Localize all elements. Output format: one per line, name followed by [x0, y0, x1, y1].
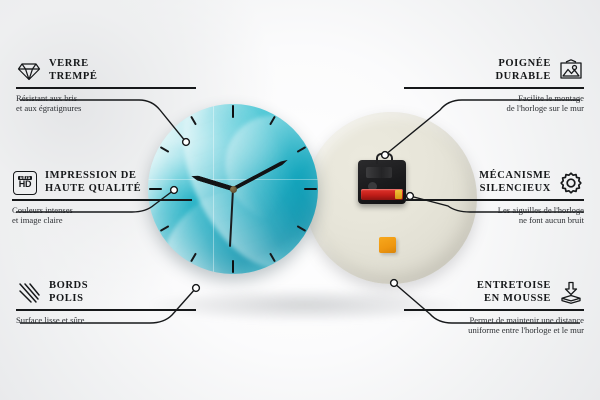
feature-verre-trempe: VERRE TREMPÉ Résistant aux bris et aux é… — [16, 58, 196, 113]
feature-divider — [16, 309, 196, 311]
diamond-icon — [16, 59, 42, 83]
ultra-hd-icon-main-label: HD — [19, 180, 32, 189]
feature-description: Surface lisse et sûre — [16, 315, 196, 325]
feature-divider — [404, 87, 584, 89]
feature-description: Permet de maintenir une distance uniform… — [404, 315, 584, 336]
mechanism-shaft — [366, 167, 392, 178]
feature-title: MÉCANISME SILENCIEUX — [479, 170, 551, 195]
feature-divider — [404, 199, 584, 201]
feature-description: Facilite le montage de l'horloge sur le … — [404, 93, 584, 114]
feature-title: VERRE TREMPÉ — [49, 58, 98, 83]
arrow-down-foam-icon — [558, 281, 584, 305]
feature-divider — [404, 309, 584, 311]
feature-poignee-durable: POIGNÉE DURABLE Facilite le montage de l… — [404, 58, 584, 113]
feature-bords-polis: BORDS POLIS Surface lisse et sûre — [16, 280, 196, 325]
clock-mechanism — [358, 160, 406, 204]
feature-mecanisme-silencieux: MÉCANISME SILENCIEUX Les aiguilles de l'… — [404, 170, 584, 225]
feature-entretoise-en-mousse: ENTRETOISE EN MOUSSE Permet de maintenir… — [404, 280, 584, 335]
feature-header: ultra HD IMPRESSION DE HAUTE QUALITÉ — [12, 170, 192, 195]
feature-title: BORDS POLIS — [49, 280, 88, 305]
diagonal-lines-icon — [16, 281, 42, 305]
feature-header: VERRE TREMPÉ — [16, 58, 196, 83]
feature-header: POIGNÉE DURABLE — [404, 58, 584, 83]
gear-icon — [558, 171, 584, 195]
feature-header: ENTRETOISE EN MOUSSE — [404, 280, 584, 305]
hour-tick — [233, 188, 317, 190]
feature-divider — [12, 199, 192, 201]
feature-title: IMPRESSION DE HAUTE QUALITÉ — [45, 170, 141, 195]
hour-tick — [232, 105, 234, 189]
battery — [361, 189, 403, 200]
feature-description: Résistant aux bris et aux égratignures — [16, 93, 196, 114]
clock-hands-hub — [230, 186, 237, 193]
feature-header: MÉCANISME SILENCIEUX — [404, 170, 584, 195]
picture-frame-hanger-icon — [558, 59, 584, 83]
ultra-hd-icon: ultra HD — [12, 171, 38, 195]
feature-title: ENTRETOISE EN MOUSSE — [477, 280, 551, 305]
feature-title: POIGNÉE DURABLE — [495, 58, 551, 83]
feature-header: BORDS POLIS — [16, 280, 196, 305]
feature-divider — [16, 87, 196, 89]
feature-description: Couleurs intenses et image claire — [12, 205, 192, 226]
battery-positive-cap — [395, 190, 402, 199]
infographic-canvas: VERRE TREMPÉ Résistant aux bris et aux é… — [0, 0, 600, 400]
feature-impression-haute-qualite: ultra HD IMPRESSION DE HAUTE QUALITÉ Cou… — [12, 170, 192, 225]
mechanism-hanger-hook — [376, 153, 393, 164]
feature-description: Les aiguilles de l'horloge ne font aucun… — [404, 205, 584, 226]
foam-spacer — [379, 237, 396, 253]
